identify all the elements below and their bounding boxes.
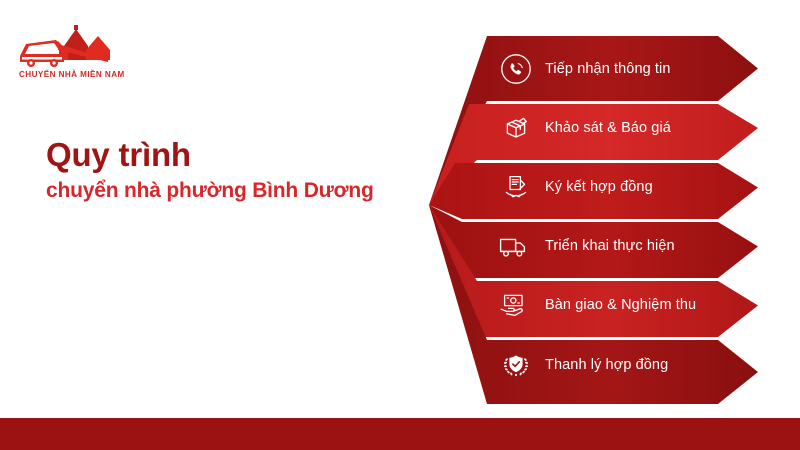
infographic-canvas: CHUYỂN NHÀ MIỀN NAM Quy trình chuyển nhà… <box>0 0 800 450</box>
hand-handover-icon <box>496 288 530 322</box>
box-package-icon <box>499 111 533 145</box>
process-step-2-label: Khảo sát & Báo giá <box>545 120 671 136</box>
shield-check-laurel-icon <box>499 348 533 382</box>
bottom-accent-bar <box>0 418 800 450</box>
contract-handshake-icon <box>499 170 533 204</box>
process-step-3-label: Ký kết hợp đồng <box>545 179 653 195</box>
process-step-5-label: Bàn giao & Nghiệm thu <box>545 297 696 313</box>
process-step-4-label: Triển khai thực hiện <box>545 238 675 254</box>
truck-icon <box>496 229 530 263</box>
process-arrow-stack <box>0 0 800 420</box>
phone-icon <box>499 52 533 86</box>
process-step-6-label: Thanh lý hợp đồng <box>545 357 668 373</box>
process-step-1-label: Tiếp nhận thông tin <box>545 61 671 77</box>
